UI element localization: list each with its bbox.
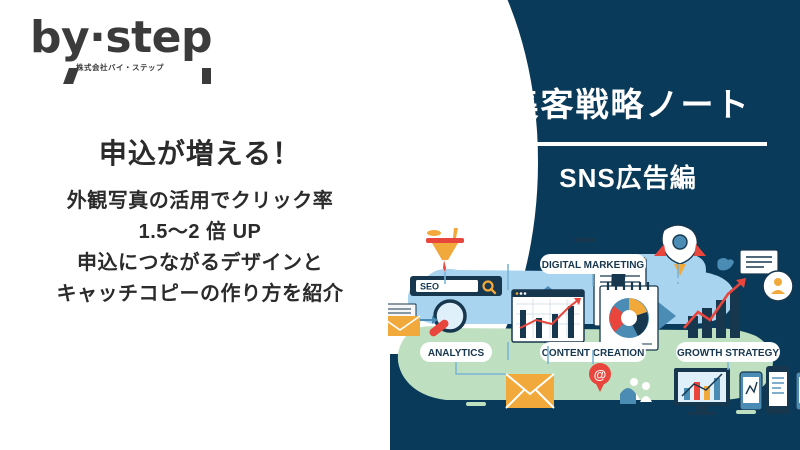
title-divider (489, 142, 767, 146)
brand-logo: by·step 株式会社バイ・ステップ (30, 16, 240, 73)
label-growth-strategy: GROWTH STRATEGY (676, 342, 780, 362)
logo-wordmark: by·step (30, 16, 240, 60)
logo-slash-mark (63, 68, 79, 84)
copy-line-1: 外観写真の活用でクリック率 (0, 186, 400, 217)
logo-bar-mark (202, 68, 211, 84)
smartphone-icon (740, 372, 762, 410)
page-subtitle: SNS広告編 (478, 158, 778, 195)
copy-line-4: キャッチコピーの作り方を紹介 (0, 279, 400, 310)
copy-line-3: 申込につながるデザインと (0, 248, 400, 279)
pie-notepad-icon (600, 282, 658, 350)
document-lines-icon (740, 250, 778, 274)
svg-text:GROWTH STRATEGY: GROWTH STRATEGY (677, 348, 779, 359)
envelope-icon (388, 304, 420, 336)
page-title: 集客戦略ノート (478, 78, 778, 126)
svg-text:DIGITAL MARKETING: DIGITAL MARKETING (542, 260, 645, 271)
title-block: 集客戦略ノート SNS広告編 (478, 78, 778, 195)
label-digital-marketing: DIGITAL MARKETING (540, 254, 646, 274)
search-box: SEO (410, 276, 502, 296)
funnel-icon (426, 228, 464, 272)
left-copy-block: 申込が増える！ 外観写真の活用でクリック率 1.5〜2 倍 UP 申込につながる… (0, 132, 400, 310)
svg-text:@: @ (594, 367, 607, 382)
smartphone-right-icon (796, 372, 800, 410)
gear-user-icon (763, 271, 793, 301)
chart-window-icon (512, 290, 584, 342)
svg-text:ANALYTICS: ANALYTICS (428, 348, 485, 359)
copy-line-2: 1.5〜2 倍 UP (0, 217, 400, 248)
svg-text:SEO: SEO (420, 282, 439, 292)
envelope-bottom-icon (506, 374, 554, 408)
logo-subtitle: 株式会社バイ・ステップ (76, 62, 240, 73)
poster-canvas: by·step 株式会社バイ・ステップ 申込が増える！ 外観写真の活用でクリック… (0, 0, 800, 450)
label-analytics: ANALYTICS (420, 342, 492, 362)
monitor-chart-icon (674, 368, 730, 415)
twitter-bird-icon (717, 258, 734, 270)
smartphone-center-icon (766, 366, 790, 414)
digital-marketing-illustration: SEO (388, 224, 800, 424)
copy-headline: 申込が増える！ (0, 132, 400, 172)
